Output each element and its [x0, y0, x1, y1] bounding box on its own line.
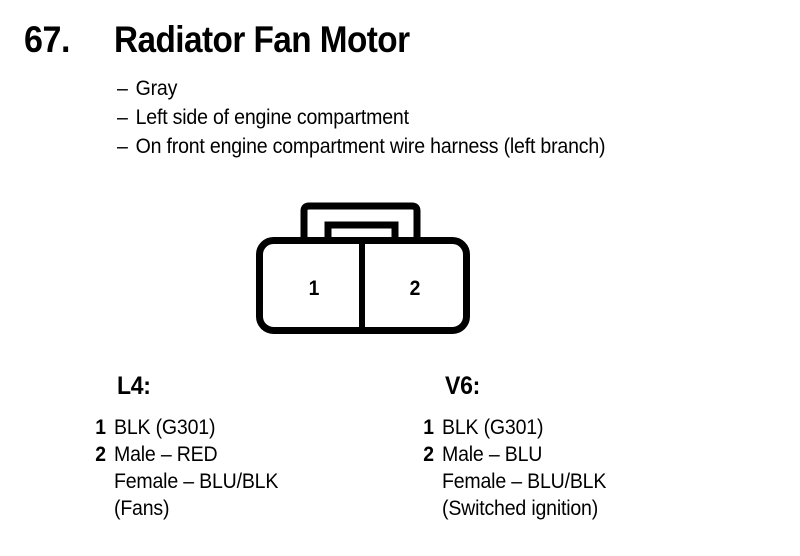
legend-rows-v6: 1 BLK (G301) 2 Male – BLU Female – BLU/B… — [412, 414, 619, 522]
legend-row-continuation: (Fans) — [84, 495, 291, 522]
legend-row: 1 BLK (G301) — [84, 414, 291, 441]
legend-pin-description: Male – BLU — [442, 441, 542, 468]
legend-pin-number: 1 — [414, 414, 434, 441]
legend-row: 1 BLK (G301) — [412, 414, 619, 441]
page-header: 67. Radiator Fan Motor — [0, 0, 800, 70]
legend-pin-description: BLK (G301) — [114, 414, 215, 441]
connector-outline-icon — [246, 196, 478, 342]
pinout-legend: L4: 1 BLK (G301) 2 Male – RED Female – B… — [0, 372, 800, 552]
legend-rows-l4: 1 BLK (G301) 2 Male – RED Female – BLU/B… — [84, 414, 291, 522]
dash-bullet-icon: – — [117, 132, 136, 161]
legend-pin-description: (Fans) — [114, 495, 169, 522]
page-title: Radiator Fan Motor — [114, 20, 410, 60]
legend-pin-number: 2 — [414, 441, 434, 468]
legend-column-l4: L4: 1 BLK (G301) 2 Male – RED Female – B… — [84, 372, 291, 522]
legend-row: 2 Male – BLU — [412, 441, 619, 468]
legend-column-v6: V6: 1 BLK (G301) 2 Male – BLU Female – B… — [412, 372, 619, 522]
description-text: Left side of engine compartment — [136, 106, 409, 129]
connector-diagram: 1 2 — [246, 196, 478, 342]
legend-pin-description: (Switched ignition) — [442, 495, 598, 522]
entry-number: 67. — [24, 20, 70, 60]
legend-row-continuation: Female – BLU/BLK — [84, 468, 291, 495]
legend-pin-number: 2 — [86, 441, 106, 468]
description-line: –Left side of engine compartment — [117, 103, 740, 132]
legend-pin-description: Male – RED — [114, 441, 217, 468]
dash-bullet-icon: – — [117, 74, 136, 103]
dash-bullet-icon: – — [117, 103, 136, 132]
description-list: –Gray –Left side of engine compartment –… — [117, 74, 787, 161]
legend-row-continuation: (Switched ignition) — [412, 495, 619, 522]
description-line: –On front engine compartment wire harnes… — [117, 132, 740, 161]
legend-heading-l4: L4: — [117, 372, 277, 400]
legend-pin-number: 1 — [86, 414, 106, 441]
legend-pin-description: Female – BLU/BLK — [442, 468, 606, 495]
description-line: –Gray — [117, 74, 740, 103]
legend-pin-description: Female – BLU/BLK — [114, 468, 278, 495]
legend-pin-description: BLK (G301) — [442, 414, 543, 441]
legend-row-continuation: Female – BLU/BLK — [412, 468, 619, 495]
legend-row: 2 Male – RED — [84, 441, 291, 468]
description-text: Gray — [136, 77, 178, 100]
connector-pin-1-label: 1 — [305, 278, 323, 299]
legend-heading-v6: V6: — [445, 372, 605, 400]
connector-pin-2-label: 2 — [406, 278, 424, 299]
description-text: On front engine compartment wire harness… — [136, 135, 606, 158]
connector-reference-page: 67. Radiator Fan Motor –Gray –Left side … — [0, 0, 800, 556]
